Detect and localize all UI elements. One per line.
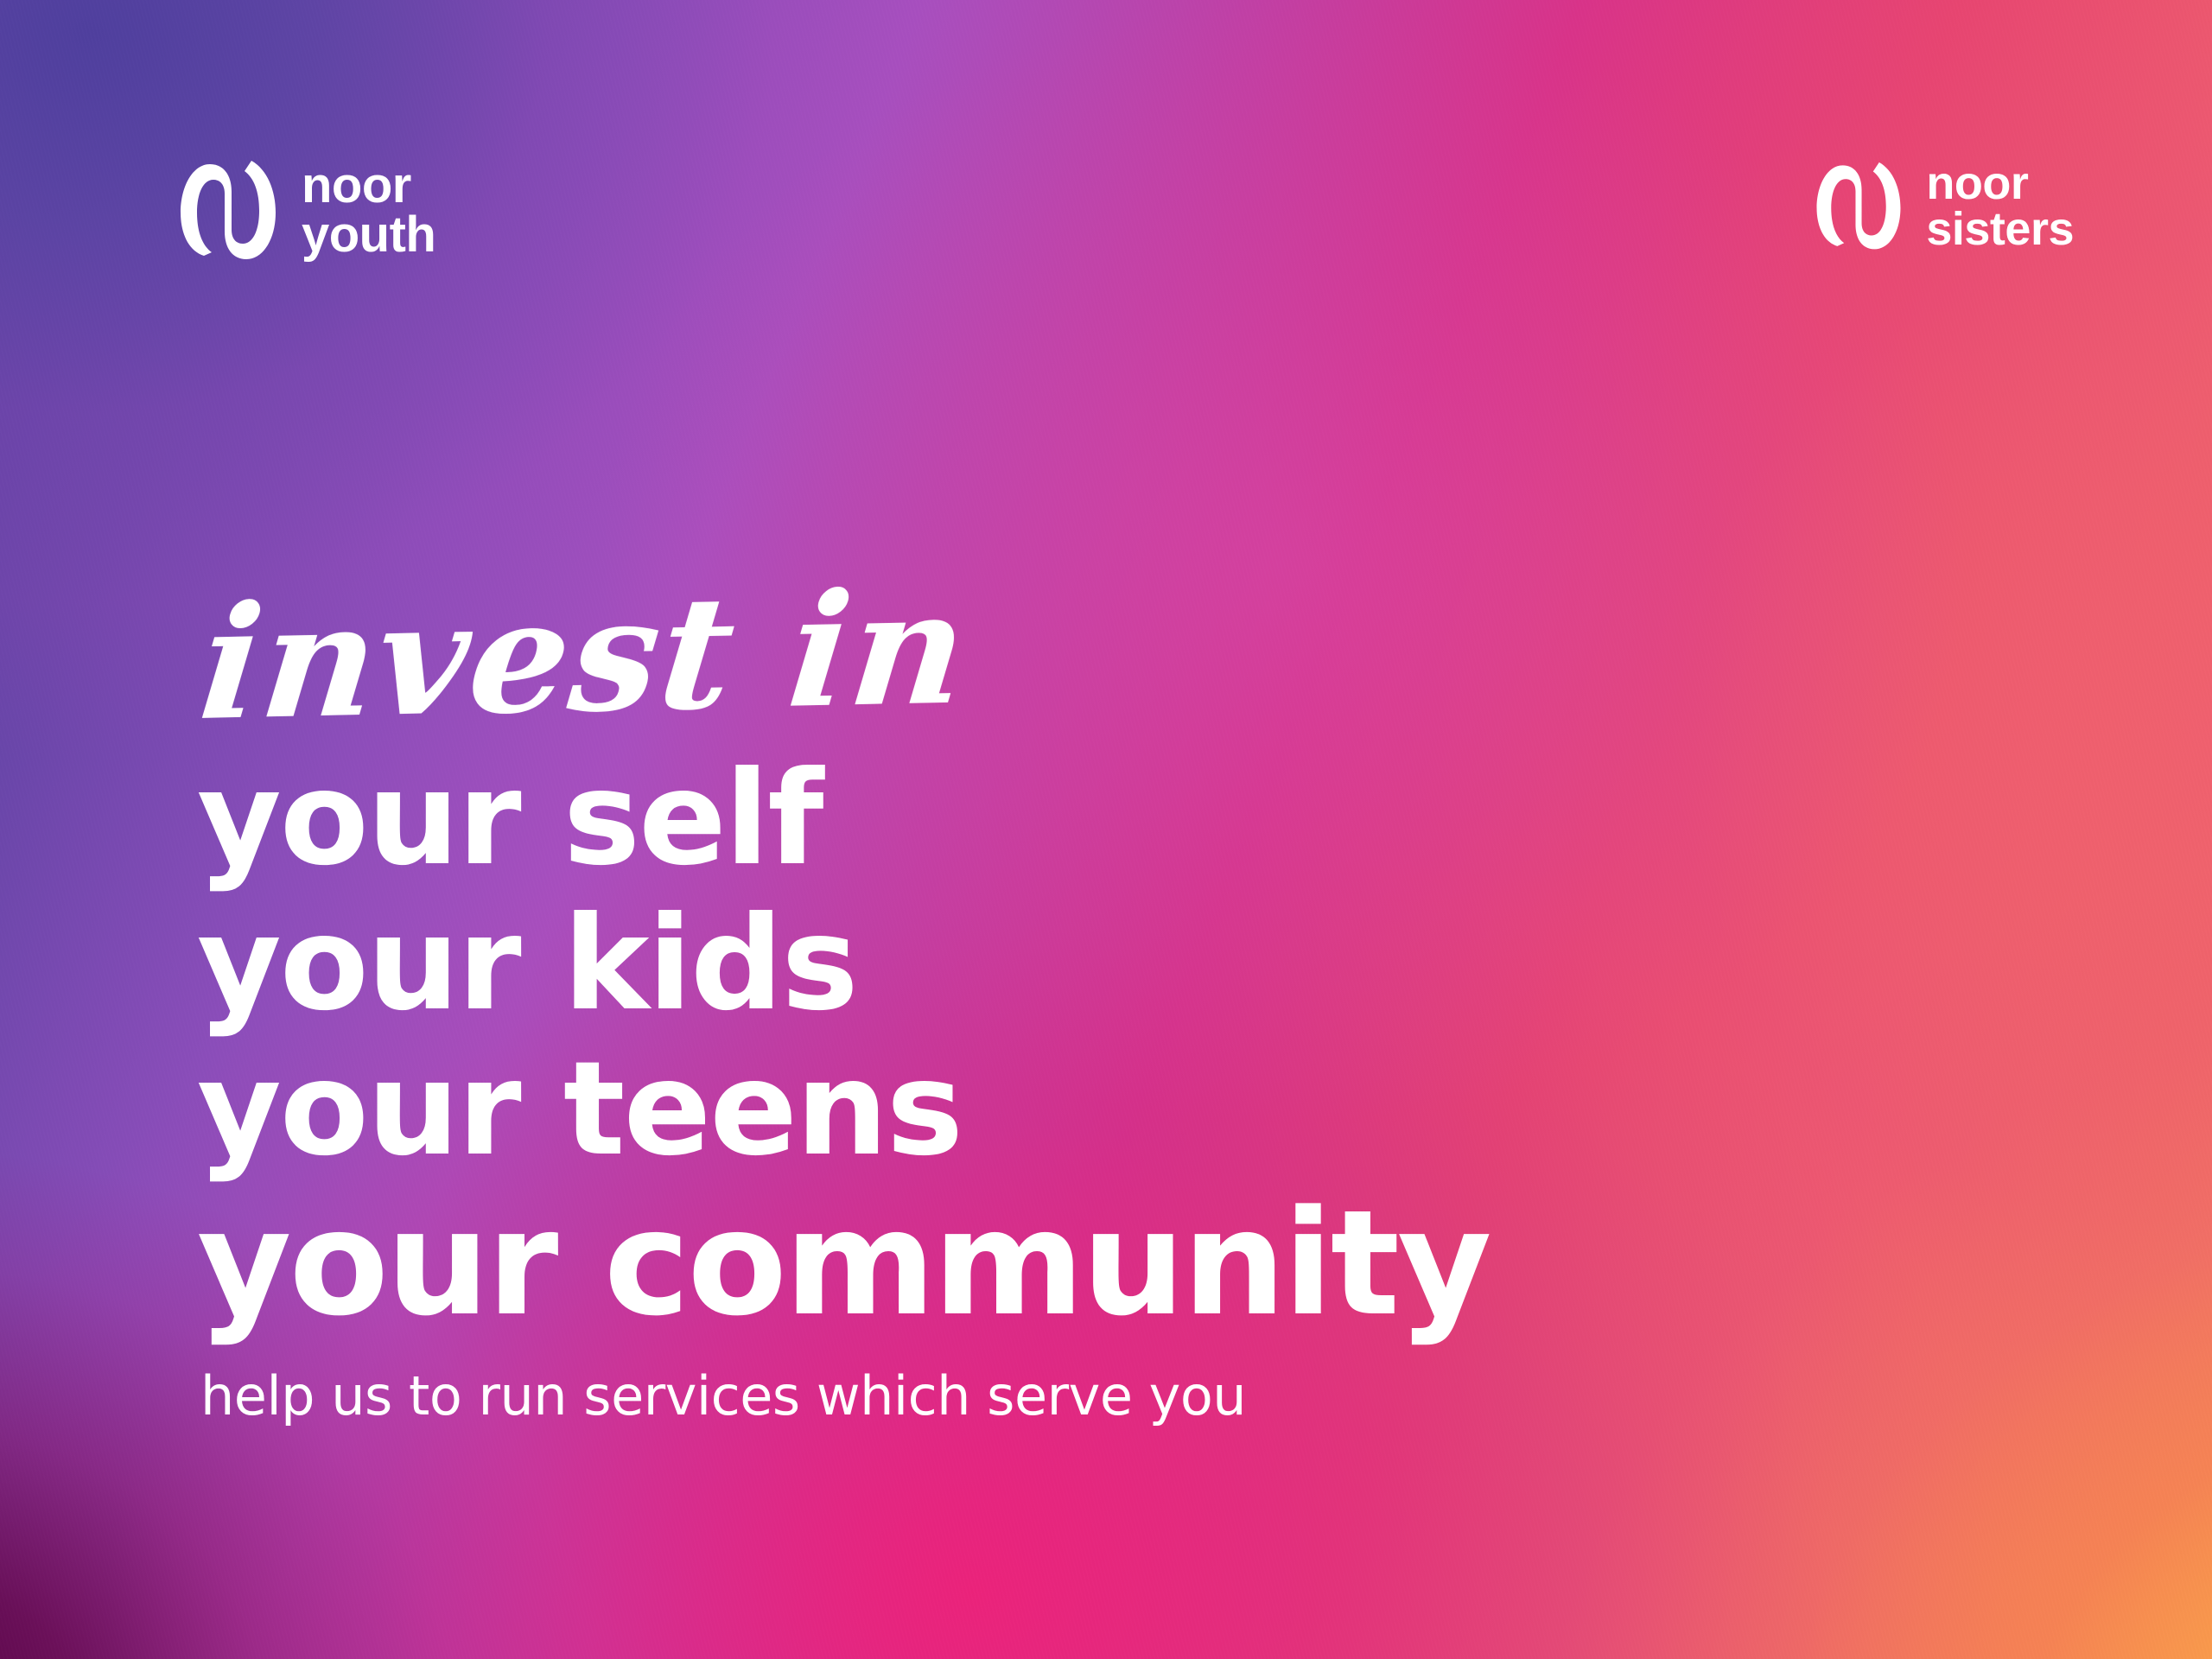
logo-word-noor: noor	[1926, 161, 2074, 207]
headline-line-self: your self	[197, 747, 1839, 892]
logo-word-sisters: sisters	[1926, 207, 2074, 252]
logo-word-youth: youth	[302, 211, 435, 260]
logo-noor-youth[interactable]: noor youth	[177, 156, 435, 266]
noor-n-mark-icon	[177, 156, 279, 266]
logo-word-noor: noor	[302, 162, 435, 211]
logo-noor-youth-wordmark: noor youth	[302, 162, 435, 260]
script-headline: invest in	[195, 558, 1850, 735]
headline-block: invest in your self your kids your teens…	[197, 593, 1839, 1426]
campaign-poster: noor youth noor sisters invest in your s…	[0, 0, 2212, 1659]
headline-line-kids: your kids	[197, 892, 1839, 1037]
logo-noor-sisters[interactable]: noor sisters	[1814, 157, 2074, 256]
headline-list: your self your kids your teens your comm…	[197, 747, 1839, 1344]
headline-line-community: your community	[197, 1182, 1839, 1344]
noor-n-mark-icon	[1814, 157, 1904, 256]
logo-noor-sisters-wordmark: noor sisters	[1926, 161, 2074, 252]
subline-call-to-action: help us to run services which serve you	[200, 1367, 1839, 1426]
headline-line-teens: your teens	[197, 1037, 1839, 1182]
